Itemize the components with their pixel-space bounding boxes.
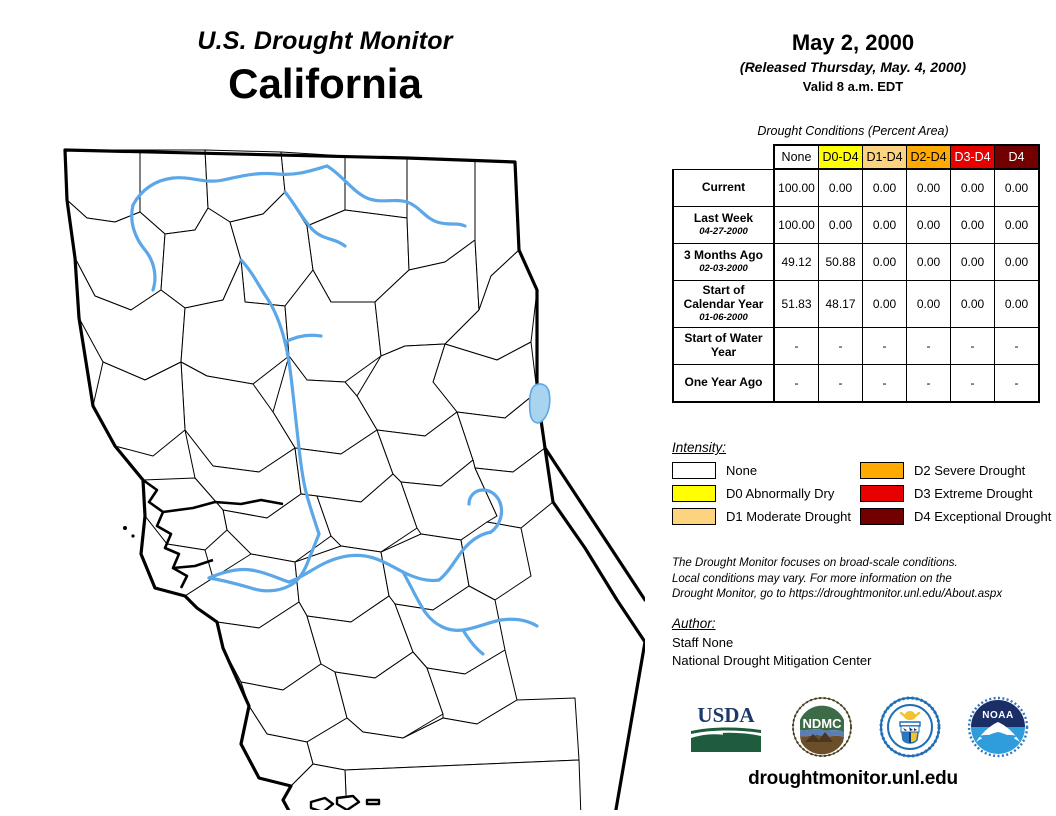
state-title: California — [0, 60, 650, 108]
table-cell: 0.00 — [951, 244, 995, 281]
logo-row: USDA NDMC — [660, 688, 1056, 766]
title-block: U.S. Drought Monitor California — [0, 28, 650, 108]
disclaimer-line-2: Local conditions may vary. For more info… — [672, 572, 1056, 588]
table-cell: 100.00 — [774, 207, 819, 244]
table-cell: - — [774, 327, 819, 364]
row-label-text: 3 Months Ago — [684, 248, 763, 262]
legend-swatch — [672, 485, 716, 502]
table-cell: - — [907, 364, 951, 402]
legend-swatch — [860, 508, 904, 525]
legend-item: D1 Moderate Drought — [672, 508, 860, 525]
row-label-text: Last Week — [694, 211, 753, 225]
table-cell: 48.17 — [819, 281, 863, 328]
row-label: One Year Ago — [673, 364, 774, 402]
release-date: (Released Thursday, May. 4, 2000) — [650, 59, 1056, 76]
table-cell: 0.00 — [995, 169, 1040, 207]
disclaimer-line-3: Drought Monitor, go to https://droughtmo… — [672, 587, 1056, 603]
commerce-seal-icon — [879, 696, 941, 758]
table-cell: - — [819, 327, 863, 364]
table-cell: 100.00 — [774, 169, 819, 207]
row-label-text: Start of Water Year — [684, 331, 762, 359]
lake-tahoe — [530, 384, 550, 423]
drought-conditions-table: None D0-D4 D1-D4 D2-D4 D3-D4 D4 Current1… — [672, 144, 1040, 403]
california-drought-map — [45, 130, 645, 810]
table-row: Start of Calendar Year01-06-200051.8348.… — [673, 281, 1039, 328]
table-cell: - — [951, 327, 995, 364]
legend-label: D3 Extreme Drought — [914, 486, 1033, 501]
table-cell: - — [774, 364, 819, 402]
table-row: Current100.000.000.000.000.000.00 — [673, 169, 1039, 207]
table-cell: - — [907, 327, 951, 364]
column-header-d4: D4 — [995, 145, 1040, 169]
legend-grid: NoneD2 Severe DroughtD0 Abnormally DryD3… — [672, 462, 1056, 525]
table-cell: 0.00 — [863, 281, 907, 328]
legend-label: D0 Abnormally Dry — [726, 486, 834, 501]
column-header-d0d4: D0-D4 — [819, 145, 863, 169]
noaa-logo: NOAA — [967, 696, 1029, 758]
noaa-logo-text: NOAA — [982, 710, 1013, 721]
row-label-date: 02-03-2000 — [676, 264, 771, 275]
row-label: Start of Calendar Year01-06-2000 — [673, 281, 774, 328]
table-cell: 50.88 — [819, 244, 863, 281]
table-cell: 49.12 — [774, 244, 819, 281]
table-cell: 0.00 — [995, 244, 1040, 281]
table-cell: - — [951, 364, 995, 402]
author-name: Staff None — [672, 634, 1056, 652]
ndmc-logo-text: NDMC — [803, 716, 843, 731]
table-cell: - — [995, 364, 1040, 402]
table-cell: 0.00 — [907, 244, 951, 281]
row-label-date: 04-27-2000 — [676, 227, 771, 238]
row-label-text: One Year Ago — [684, 375, 762, 389]
disclaimer-line-1: The Drought Monitor focuses on broad-sca… — [672, 556, 1056, 572]
table-head: None D0-D4 D1-D4 D2-D4 D3-D4 D4 — [673, 145, 1039, 169]
nevada-border — [545, 448, 645, 600]
legend-label: D1 Moderate Drought — [726, 509, 851, 524]
date-block: May 2, 2000 (Released Thursday, May. 4, … — [650, 30, 1056, 95]
legend-item: None — [672, 462, 860, 479]
valid-time: Valid 8 a.m. EDT — [650, 79, 1056, 95]
author-title: Author: — [672, 616, 1056, 631]
row-label: Current — [673, 169, 774, 207]
table-cell: 0.00 — [951, 281, 995, 328]
legend-item: D0 Abnormally Dry — [672, 485, 860, 502]
table-row: Last Week04-27-2000100.000.000.000.000.0… — [673, 207, 1039, 244]
table-cell: 0.00 — [819, 169, 863, 207]
row-label-date: 01-06-2000 — [676, 313, 771, 324]
legend-swatch — [672, 508, 716, 525]
legend-item: D2 Severe Drought — [860, 462, 1056, 479]
legend-swatch — [860, 485, 904, 502]
intensity-legend: Intensity: NoneD2 Severe DroughtD0 Abnor… — [672, 440, 1056, 525]
legend-label: D2 Severe Drought — [914, 463, 1025, 478]
table-body: Current100.000.000.000.000.000.00Last We… — [673, 169, 1039, 402]
column-header-d2d4: D2-D4 — [907, 145, 951, 169]
row-label: Last Week04-27-2000 — [673, 207, 774, 244]
row-label: 3 Months Ago02-03-2000 — [673, 244, 774, 281]
legend-item: D3 Extreme Drought — [860, 485, 1056, 502]
table-cell: 0.00 — [863, 244, 907, 281]
ndmc-logo: NDMC — [791, 696, 853, 758]
info-panel: May 2, 2000 (Released Thursday, May. 4, … — [650, 0, 1056, 816]
table-cell: 0.00 — [995, 281, 1040, 328]
website-url: droughtmonitor.unl.edu — [650, 768, 1056, 790]
legend-swatch — [860, 462, 904, 479]
usda-logo-text: USDA — [697, 703, 755, 727]
program-title: U.S. Drought Monitor — [0, 28, 650, 56]
column-header-d1d4: D1-D4 — [863, 145, 907, 169]
usda-logo: USDA — [687, 700, 765, 754]
legend-label: None — [726, 463, 757, 478]
table-cell: 0.00 — [907, 207, 951, 244]
legend-swatch — [672, 462, 716, 479]
table-row: One Year Ago------ — [673, 364, 1039, 402]
intensity-title: Intensity: — [672, 440, 1056, 455]
row-label-text: Current — [702, 180, 745, 194]
row-label: Start of Water Year — [673, 327, 774, 364]
table-cell: 0.00 — [907, 169, 951, 207]
legend-item: D4 Exceptional Drought — [860, 508, 1056, 525]
table-header-row: None D0-D4 D1-D4 D2-D4 D3-D4 D4 — [673, 145, 1039, 169]
report-date: May 2, 2000 — [650, 30, 1056, 56]
table-cell: 0.00 — [863, 169, 907, 207]
map-panel: U.S. Drought Monitor California — [0, 0, 650, 816]
column-header-none: None — [774, 145, 819, 169]
table-cell: - — [995, 327, 1040, 364]
table-cell: - — [863, 327, 907, 364]
legend-label: D4 Exceptional Drought — [914, 509, 1051, 524]
table-cell: 0.00 — [863, 207, 907, 244]
table-cell: 0.00 — [907, 281, 951, 328]
author-block: Author: Staff None National Drought Miti… — [672, 616, 1056, 669]
table-cell: 51.83 — [774, 281, 819, 328]
table-cell: 0.00 — [819, 207, 863, 244]
table-cell: 0.00 — [995, 207, 1040, 244]
disclaimer-text: The Drought Monitor focuses on broad-sca… — [672, 556, 1056, 603]
row-label-text: Start of Calendar Year — [684, 283, 764, 311]
table-cell: 0.00 — [951, 207, 995, 244]
map-svg — [45, 130, 645, 810]
table-caption: Drought Conditions (Percent Area) — [650, 124, 1056, 138]
table-cell: 0.00 — [951, 169, 995, 207]
column-header-d3d4: D3-D4 — [951, 145, 995, 169]
table-corner-cell — [673, 145, 774, 169]
table-row: Start of Water Year------ — [673, 327, 1039, 364]
table-cell: - — [863, 364, 907, 402]
bay-islands — [123, 526, 135, 538]
table-row: 3 Months Ago02-03-200049.1250.880.000.00… — [673, 244, 1039, 281]
table-cell: - — [819, 364, 863, 402]
author-organization: National Drought Mitigation Center — [672, 652, 1056, 670]
